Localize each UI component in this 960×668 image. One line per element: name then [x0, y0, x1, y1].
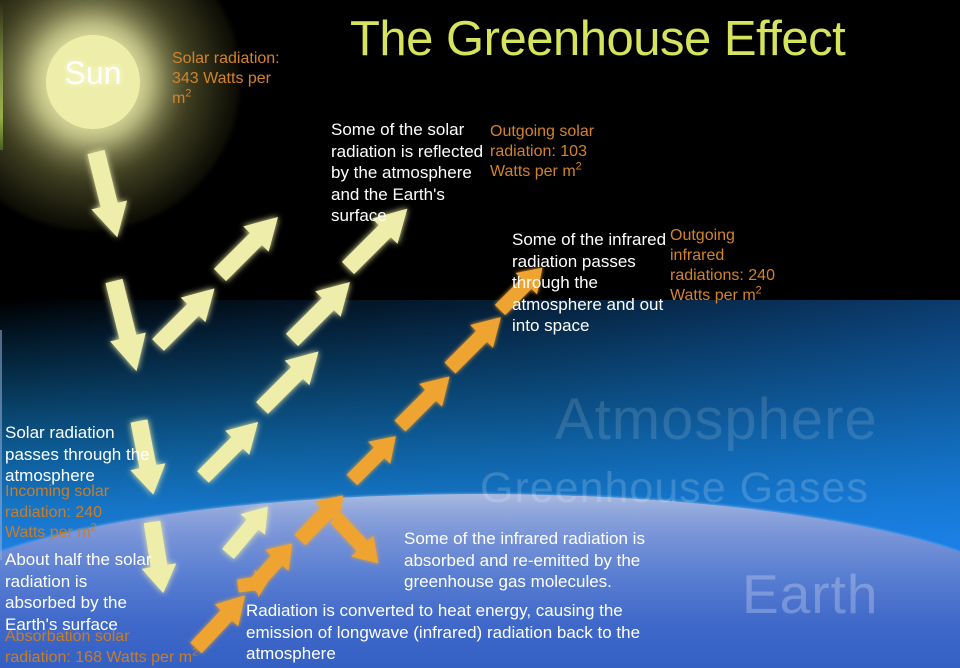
solar-reflected-arrows — [146, 196, 420, 564]
caption-line: Absorbation solar — [5, 627, 230, 648]
caption-unit: Watts per m — [490, 163, 576, 180]
caption-absorbed-reemitted: Some of the infrared radiation is absorb… — [404, 528, 694, 593]
caption-unit: m — [172, 90, 185, 107]
caption-absorbation-solar: Absorbation solar radiation: 168 Watts p… — [5, 627, 230, 668]
caption-converted-to-heat: Radiation is converted to heat energy, c… — [246, 600, 656, 665]
caption-about-half-absorbed: About half the solar radiation is absorb… — [5, 549, 155, 635]
caption-line: Solar radiation: — [172, 49, 322, 69]
infrared-outgoing-arrows — [184, 257, 553, 659]
caption-outgoing-infrared: Outgoing infrared radiations: 240 Watts … — [670, 226, 805, 306]
caption-line: Outgoing — [670, 226, 805, 246]
caption-infrared-passes: Some of the infrared radiation passes th… — [512, 229, 672, 337]
caption-line: m2 — [172, 89, 322, 109]
caption-solar-passes: Solar radiation passes through the atmos… — [5, 422, 155, 487]
caption-line: Outgoing solar — [490, 122, 620, 142]
caption-incoming-solar: Incoming solar radiation: 240 Watts per … — [5, 482, 145, 544]
caption-line: Incoming solar — [5, 482, 145, 503]
caption-superscript: 2 — [185, 88, 191, 100]
caption-line: 343 Watts per — [172, 69, 322, 89]
caption-solar-reflected: Some of the solar radiation is reflected… — [331, 119, 491, 227]
caption-unit: radiation: 168 Watts per m — [5, 649, 192, 666]
caption-unit: Watts per m — [670, 287, 756, 304]
caption-superscript: 2 — [91, 522, 97, 534]
caption-line: radiation: 240 — [5, 503, 145, 524]
greenhouse-effect-diagram: Atmosphere Greenhouse Gases Earth Sun Th… — [0, 0, 960, 668]
caption-superscript: 2 — [576, 161, 582, 173]
caption-solar-radiation-value: Solar radiation: 343 Watts per m2 — [172, 49, 322, 109]
caption-line: Watts per m2 — [670, 286, 805, 306]
caption-line: radiations: 240 — [670, 266, 805, 286]
caption-unit: Watts per m — [5, 524, 91, 541]
caption-line: radiation: 103 — [490, 142, 620, 162]
caption-line: radiation: 168 Watts per m2 — [5, 648, 230, 668]
caption-superscript: 2 — [192, 646, 198, 658]
caption-line: Watts per m2 — [490, 162, 620, 182]
caption-superscript: 2 — [756, 285, 762, 297]
caption-line: Watts per m2 — [5, 523, 145, 544]
caption-line: infrared — [670, 246, 805, 266]
caption-outgoing-solar: Outgoing solar radiation: 103 Watts per … — [490, 122, 620, 182]
